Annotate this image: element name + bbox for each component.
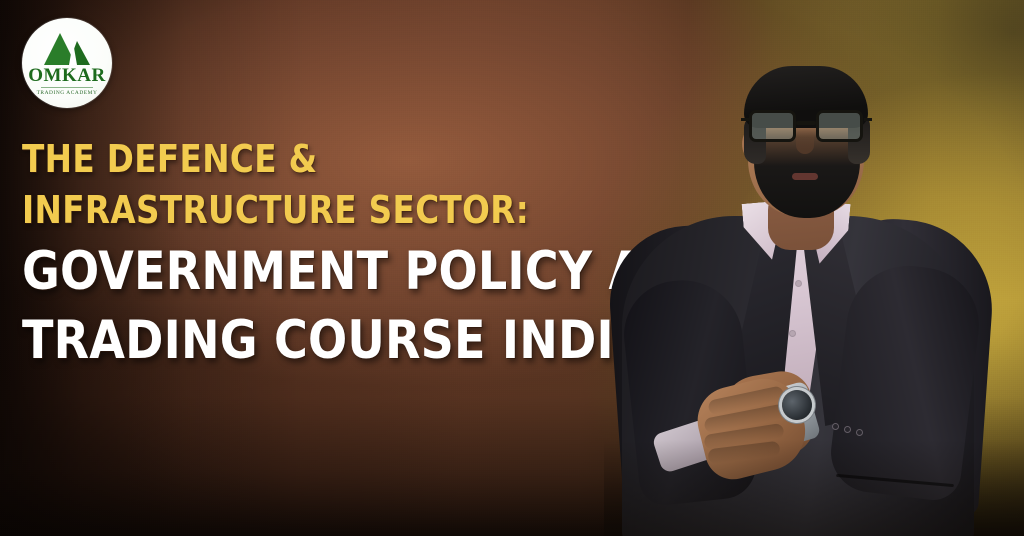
- logo-tagline: TRADING ACADEMY: [37, 91, 98, 96]
- sleeve-button-2: [844, 426, 851, 433]
- presenter-portrait: [604, 0, 1024, 536]
- headline-line-1: GOVERNMENT POLICY AS YOUR: [22, 245, 631, 298]
- eyeglasses-icon: [746, 110, 868, 144]
- eyeglass-lens-right: [816, 110, 863, 142]
- mountain-peak-icon: [43, 32, 91, 65]
- eyeglass-bridge: [796, 121, 816, 125]
- eyeglass-temple-left: [741, 118, 749, 121]
- sleeve-button-3: [856, 429, 863, 436]
- promo-banner: OMKAR TRADING ACADEMY THE DEFENCE & INFR…: [0, 0, 1024, 536]
- shirt-button-bottom: [790, 331, 795, 336]
- brand-logo[interactable]: OMKAR TRADING ACADEMY: [22, 18, 112, 108]
- kicker-line-2: INFRASTRUCTURE SECTOR:: [22, 191, 624, 229]
- logo-divider: [41, 87, 93, 88]
- eyeglass-lens-left: [749, 110, 796, 142]
- logo-wordmark: OMKAR: [28, 66, 105, 85]
- kicker-line-1: THE DEFENCE &: [22, 140, 624, 178]
- eyeglass-temple-right: [864, 118, 872, 121]
- sleeve-button-1: [832, 423, 839, 430]
- shirt-button-top: [796, 281, 801, 286]
- mouth: [792, 173, 818, 180]
- headline-line-2: TRADING COURSE INDICATOR: [22, 314, 631, 367]
